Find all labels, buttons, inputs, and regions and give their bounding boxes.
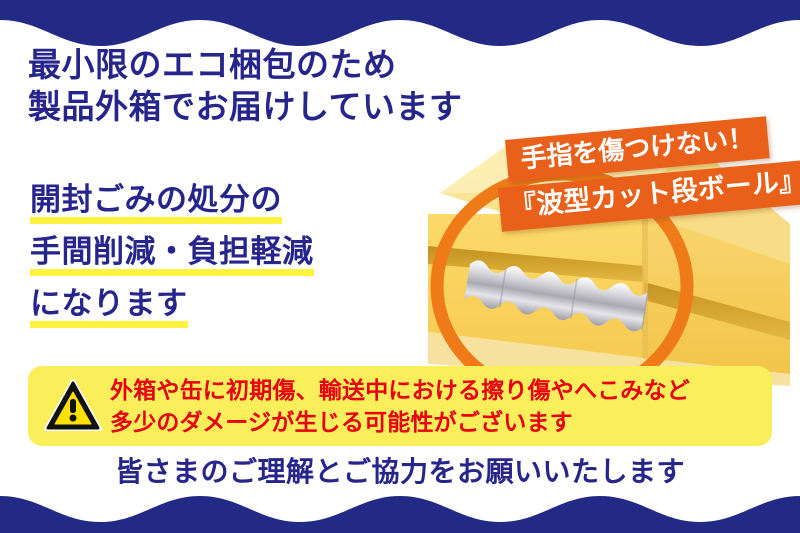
top-wave-decoration	[0, 0, 800, 50]
warning-text: 外箱や缶に初期傷、輸送中における擦り傷やへこみなど 多少のダメージが生じる可能性…	[110, 374, 762, 438]
subheadline-line-3: になります	[30, 287, 188, 321]
headline-line-2: 製品外箱でお届けしています	[28, 86, 498, 128]
warning-triangle-icon	[44, 378, 102, 434]
headline: 最小限のエコ梱包のため 製品外箱でお届けしています	[28, 44, 498, 128]
warning-line-1: 外箱や缶に初期傷、輸送中における擦り傷やへこみなど	[110, 374, 762, 406]
subheadline-line-1: 開封ごみの処分の	[30, 183, 282, 217]
subheadline-row-3: になります	[30, 287, 430, 339]
promo-banner: 最小限のエコ梱包のため 製品外箱でお届けしています 開封ごみの処分の 手間削減・…	[0, 0, 800, 533]
headline-line-1: 最小限のエコ梱包のため	[28, 44, 498, 86]
warning-callout: 外箱や缶に初期傷、輸送中における擦り傷やへこみなど 多少のダメージが生じる可能性…	[28, 366, 772, 446]
closing-statement: 皆さまのご理解とご協力をお願いいたします	[0, 455, 800, 489]
warning-line-2: 多少のダメージが生じる可能性がございます	[110, 406, 762, 438]
subheadline: 開封ごみの処分の 手間削減・負担軽減 になります	[30, 183, 430, 339]
subheadline-row-2: 手間削減・負担軽減	[30, 235, 430, 287]
subheadline-line-2: 手間削減・負担軽減	[30, 235, 314, 269]
subheadline-row-1: 開封ごみの処分の	[30, 183, 430, 235]
